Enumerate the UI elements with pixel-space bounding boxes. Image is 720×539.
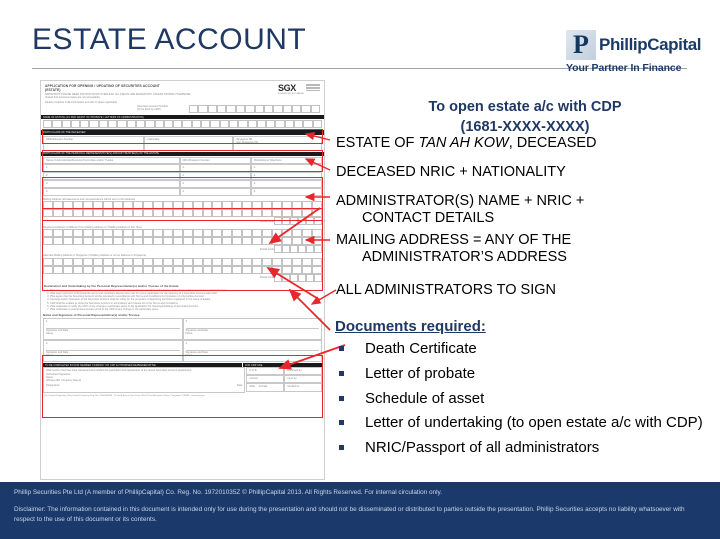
declaration-item: I/We undertake to submit documentary pro… [50, 308, 321, 311]
label-designation-date: Date [237, 384, 242, 387]
alternate-address-boxes-2[interactable] [43, 266, 322, 274]
postal-code-boxes-3[interactable] [274, 274, 322, 282]
sgx-logo: SGX SINGAPORE EXCHANGE [278, 84, 320, 104]
label-postal-code-1: Postal Code [260, 220, 274, 223]
table-row[interactable]: 2. 2. 2. [43, 172, 322, 180]
row-num-3a[interactable]: 3. [43, 180, 180, 188]
registered-address-boxes-2[interactable] [43, 237, 322, 245]
field-deceased-pr-status[interactable]: Singapore PR Non-Singapore PR [233, 136, 322, 151]
option-female[interactable]: Female [259, 385, 268, 388]
bullet-icon [339, 396, 344, 401]
annotation-deceased-nric: DECEASED NRIC + NATIONALITY [336, 164, 716, 181]
scanned-application-form: APPLICATION FOR OPENING / UPDATING OF SE… [40, 80, 325, 480]
field-input-by[interactable]: Input by: [284, 375, 322, 383]
form-footnote: The Central Depository (Pte) Limited Com… [44, 395, 321, 398]
table-row[interactable]: 3. 3. 3. [43, 180, 322, 188]
logo-company-name: PhillipCapital [599, 35, 701, 55]
document-label: Death Certificate [365, 340, 477, 357]
row-num-1b[interactable]: 1. [180, 164, 251, 172]
bullet-icon [339, 420, 344, 425]
sig-row-num-1: 1. [46, 320, 180, 323]
bullet-icon [339, 371, 344, 376]
row-num-3c[interactable]: 3. [251, 180, 322, 188]
row-num-2a[interactable]: 2. [43, 172, 180, 180]
row-num-3b[interactable]: 3. [180, 180, 251, 188]
sig-label-name-2: Name [46, 354, 180, 357]
footer-disclaimer: Disclaimer: The information contained in… [14, 505, 704, 525]
declaration-title: Declaration and Undertaking by the Perso… [44, 284, 321, 288]
annotation-all-sign: ALL ADMINISTRATORS TO SIGN [336, 282, 716, 299]
bullet-icon [339, 445, 344, 450]
postal-code-boxes-1[interactable] [274, 217, 322, 225]
signature-section-title: Name and Signature of Personal Represent… [43, 313, 322, 317]
section-bar-estate-name: NAME OF ESTATE (AS PER GRANT OF PROBATE … [41, 115, 324, 119]
annotation-administrator-line2: CONTACT DETAILS [336, 210, 716, 227]
row-num-1a[interactable]: 1. [43, 164, 180, 172]
row-num-1c[interactable]: 1. [251, 164, 322, 172]
row-num-4b[interactable]: 4. [180, 188, 251, 196]
col-header-admin-phone: Mobile/Home Telephone [251, 157, 322, 164]
row-num-4a[interactable]: 4. [43, 188, 180, 196]
field-dob[interactable]: D.O.B [246, 367, 284, 375]
list-item: Death Certificate [335, 340, 715, 359]
sig-label-name-4: Name [186, 354, 320, 357]
field-deceased-nationality[interactable]: Nationality [144, 136, 233, 151]
sig-row-num-3: 3. [186, 320, 320, 323]
sgx-logo-subtitle: SINGAPORE EXCHANGE [278, 93, 304, 95]
list-item: Letter of probate [335, 365, 715, 384]
document-label: Letter of probate [365, 365, 475, 382]
mailing-address-boxes-2[interactable] [43, 209, 322, 217]
field-gender[interactable]: Male Female [246, 383, 284, 392]
documents-required-list: Death Certificate Letter of probate Sche… [335, 340, 715, 464]
sig-row-num-2: 2. [46, 342, 180, 345]
label-postal-code-3: Postal Code [260, 276, 274, 279]
field-verified-by[interactable]: Verified by: [284, 383, 322, 392]
label-company-stamp: (Please affix Company Stamp) [46, 379, 242, 382]
sig-row-num-4: 4. [186, 342, 320, 345]
annotation-administrator-line1: ADMINISTRATOR(S) NAME + NRIC + [336, 193, 584, 209]
table-row[interactable]: 4. 4. 4. [43, 188, 322, 196]
row-num-2c[interactable]: 2. [251, 172, 322, 180]
logo-p-mark-icon: P [566, 30, 596, 60]
signature-box-1[interactable]: 1. Signature and Date Name [43, 318, 183, 340]
signature-box-4[interactable]: 4. Signature and Date Name [183, 340, 323, 362]
section-bar-administrators: PARTICULARS OF THE PERSONAL REPRESENTATI… [41, 152, 324, 156]
logo-p-letter: P [573, 32, 589, 58]
page-title: ESTATE ACCOUNT [32, 23, 306, 57]
document-label: Letter of undertaking (to open estate a/… [365, 414, 703, 431]
bullet-icon [339, 346, 344, 351]
alternate-address-boxes-1[interactable] [43, 258, 322, 266]
footer-copyright: Phillip Securities Pte Ltd (A member of … [14, 489, 442, 497]
annotation-estate-of: ESTATE OF TAN AH KOW, DECEASED [336, 135, 716, 152]
document-label: Schedule of asset [365, 390, 484, 407]
sgx-logo-text: SGX [278, 84, 304, 93]
member-confirm-text: I/We confirm that I/we have witnessed an… [46, 369, 242, 372]
label-designation: Designation [46, 384, 60, 387]
slide-footer: Phillip Securities Pte Ltd (A member of … [0, 482, 720, 539]
annotation-mailing-line1: MAILING ADDRESS = ANY OF THE [336, 232, 571, 248]
member-company-panel[interactable]: I/We confirm that I/we have witnessed an… [43, 367, 245, 393]
logo-tagline: Your Partner In Finance [566, 62, 706, 74]
field-deceased-nric[interactable]: NRIC/Passport Number [43, 136, 144, 151]
annotation-estate-name: TAN AH KOW [418, 135, 508, 151]
section-bar-deceased: PARTICULARS OF THE DECEASED [41, 130, 324, 134]
col-header-admin-nric: NRIC/Passport Number [180, 157, 251, 164]
mailing-address-boxes-1[interactable] [43, 201, 322, 209]
document-label: NRIC/Passport of all administrators [365, 439, 599, 456]
list-item: NRIC/Passport of all administrators [335, 439, 715, 458]
annotation-mailing-address: MAILING ADDRESS = ANY OF THE ADMINISTRAT… [336, 232, 716, 266]
account-number-boxes[interactable] [189, 105, 320, 113]
annotation-estate-prefix: ESTATE OF [336, 135, 418, 151]
form-title-line2: (ESTATE) [45, 88, 213, 92]
row-num-2b[interactable]: 2. [180, 172, 251, 180]
postal-code-boxes-2[interactable] [274, 245, 322, 253]
list-item: Schedule of asset [335, 390, 715, 409]
signature-box-3[interactable]: 3. Signature and Date Name [183, 318, 323, 340]
account-number-sublabel: (To be filled by CDP) [137, 108, 189, 111]
sig-label-name-1: Name [46, 332, 180, 335]
phillipcapital-logo: P PhillipCapital Your Partner In Finance [566, 30, 706, 74]
sgx-bars-icon [306, 84, 320, 92]
option-non-singapore-pr[interactable]: Non-Singapore PR [236, 141, 319, 144]
list-item: Letter of undertaking (to open estate a/… [335, 414, 715, 433]
estate-name-boxes[interactable] [43, 120, 322, 128]
label-postal-code-2: Postal Code [260, 248, 274, 251]
cdp-heading-line2: (1681-XXXX-XXXX) [461, 119, 590, 135]
signature-box-2[interactable]: 2. Signature and Date Name [43, 340, 183, 362]
documents-required-title: Documents required: [335, 318, 486, 335]
annotation-mailing-line2: ADMINISTRATOR’S ADDRESS [336, 249, 716, 266]
annotation-administrator: ADMINISTRATOR(S) NAME + NRIC + CONTACT D… [336, 193, 716, 227]
sig-label-name-3: Name [186, 332, 320, 335]
field-courier[interactable]: Courier [246, 375, 284, 383]
cdp-heading: To open estate a/c with CDP (1681-XXXX-X… [345, 98, 705, 137]
form-note-block: Please complete in BLOCK letters and tic… [45, 101, 213, 104]
form-note-fax: (Faxed and scanned copies are not accept… [45, 96, 213, 99]
table-row[interactable]: 1. 1. 1. [43, 164, 322, 172]
field-received-by[interactable]: Received by: [284, 367, 322, 375]
annotation-estate-suffix: , DECEASED [509, 135, 597, 151]
row-num-4c[interactable]: 4. [251, 188, 322, 196]
col-header-admin-name: Name of Administrator/Executor/Committee… [43, 157, 180, 164]
cdp-heading-line1: To open estate a/c with CDP [428, 99, 621, 115]
registered-address-boxes-1[interactable] [43, 229, 322, 237]
option-male[interactable]: Male [249, 385, 255, 388]
